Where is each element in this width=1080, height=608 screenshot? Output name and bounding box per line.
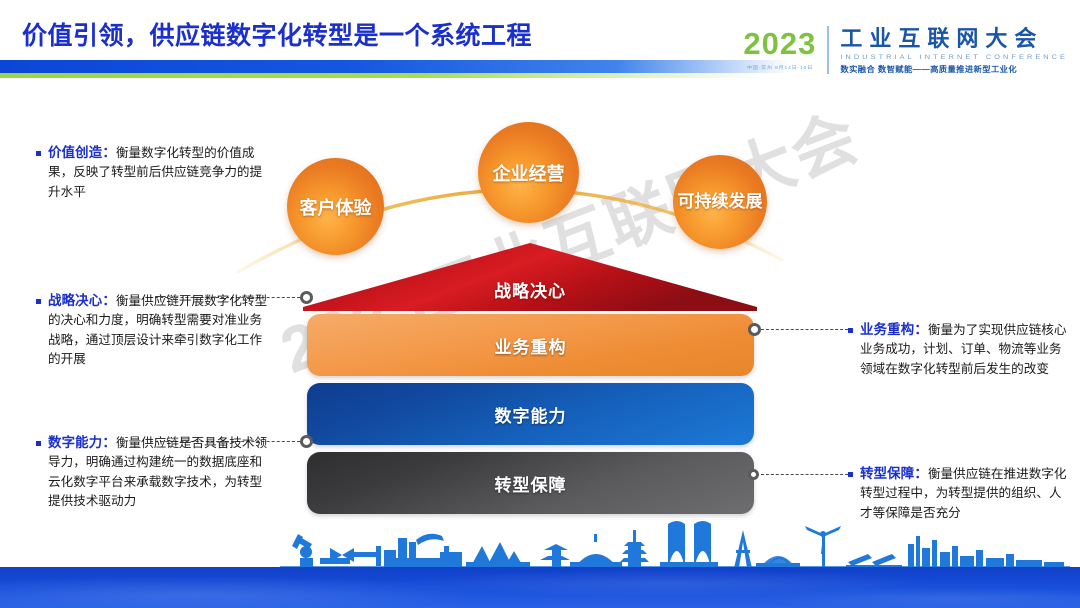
bullet-icon [848,328,853,333]
connector-line [761,474,853,475]
pyramid-layer-business-restructuring[interactable]: 业务重构 [307,314,754,376]
annotation-key: 价值创造： [48,145,116,160]
annotation-key: 数字能力： [48,435,116,450]
annotation-key: 转型保障： [860,466,928,481]
annotation-strategic-determination: 战略决心：衡量供应链开展数字化转型的决心和力度，明确转型需要对准业务战略，通过顶… [36,291,268,369]
annotation-key: 业务重构： [860,322,928,337]
annotation-business-restructuring: 业务重构：衡量为了实现供应链核心业务成功，计划、订单、物流等业务领域在数字化转型… [848,320,1070,379]
annotation-key: 战略决心： [48,293,116,308]
logo-year-subtitle: 中国·常州 8月14日-16日 [747,64,813,70]
bullet-icon [36,151,41,156]
connector-dot-icon [300,435,313,448]
logo-year: 2023 [743,28,816,59]
conference-logo: 2023 中国·常州 8月14日-16日 工业互联网大会 INDUSTRIAL … [743,26,1068,82]
bullet-icon [36,441,41,446]
logo-name-cn: 工业互联网大会 [840,27,1068,50]
connector-right-business [748,328,853,330]
bullet-icon [848,472,853,477]
value-circle-customer-experience[interactable]: 客户体验 [287,158,384,255]
page-title: 价值引领，供应链数字化转型是一个系统工程 [22,16,532,52]
value-circle-enterprise-operation[interactable]: 企业经营 [478,122,579,223]
connector-dot-icon [300,291,313,304]
header-divider-bar [0,60,790,73]
connector-dot-icon [748,469,759,480]
annotation-transformation-assurance: 转型保障：衡量供应链在推进数字化转型过程中，为转型提供的组织、人才等保障是否充分 [848,464,1070,523]
logo-year-group: 2023 中国·常州 8月14日-16日 [743,26,829,74]
logo-slogan: 数实融合 数智赋能——高质量推进新型工业化 [840,63,1068,74]
annotation-body: 转型保障：衡量供应链在推进数字化转型过程中，为转型提供的组织、人才等保障是否充分 [860,464,1070,523]
slide-canvas: 价值引领，供应链数字化转型是一个系统工程 2023 中国·常州 8月14日-16… [0,0,1080,608]
footer-band [0,567,1080,608]
annotation-body: 价值创造：衡量数字化转型的价值成果，反映了转型前后供应链竞争力的提升水平 [48,143,266,202]
logo-name-en: INDUSTRIAL INTERNET CONFERENCE [840,52,1068,60]
connector-right-assurance [748,473,853,475]
connector-dot-icon [748,323,761,336]
logo-name-group: 工业互联网大会 INDUSTRIAL INTERNET CONFERENCE 数… [829,27,1068,75]
bullet-icon [36,299,41,304]
annotation-body: 业务重构：衡量为了实现供应链核心业务成功，计划、订单、物流等业务领域在数字化转型… [860,320,1070,379]
pyramid-roof-label: 战略决心 [303,277,757,302]
pyramid-layer-digital-capability[interactable]: 数字能力 [307,383,754,445]
annotation-digital-capability: 数字能力：衡量供应链是否具备技术领导力，明确通过构建统一的数据底座和云化数字平台… [36,433,268,511]
header-divider-accent [0,73,760,78]
annotation-body: 战略决心：衡量供应链开展数字化转型的决心和力度，明确转型需要对准业务战略，通过顶… [48,291,268,369]
annotation-value-creation: 价值创造：衡量数字化转型的价值成果，反映了转型前后供应链竞争力的提升水平 [36,143,266,202]
annotation-body: 数字能力：衡量供应链是否具备技术领导力，明确通过构建统一的数据底座和云化数字平台… [48,433,268,511]
connector-line [761,329,853,330]
pyramid-layer-transformation-assurance: 转型保障 [307,452,754,514]
city-skyline-decoration [0,518,1080,568]
value-circle-sustainable-development[interactable]: 可持续发展 [673,155,767,249]
